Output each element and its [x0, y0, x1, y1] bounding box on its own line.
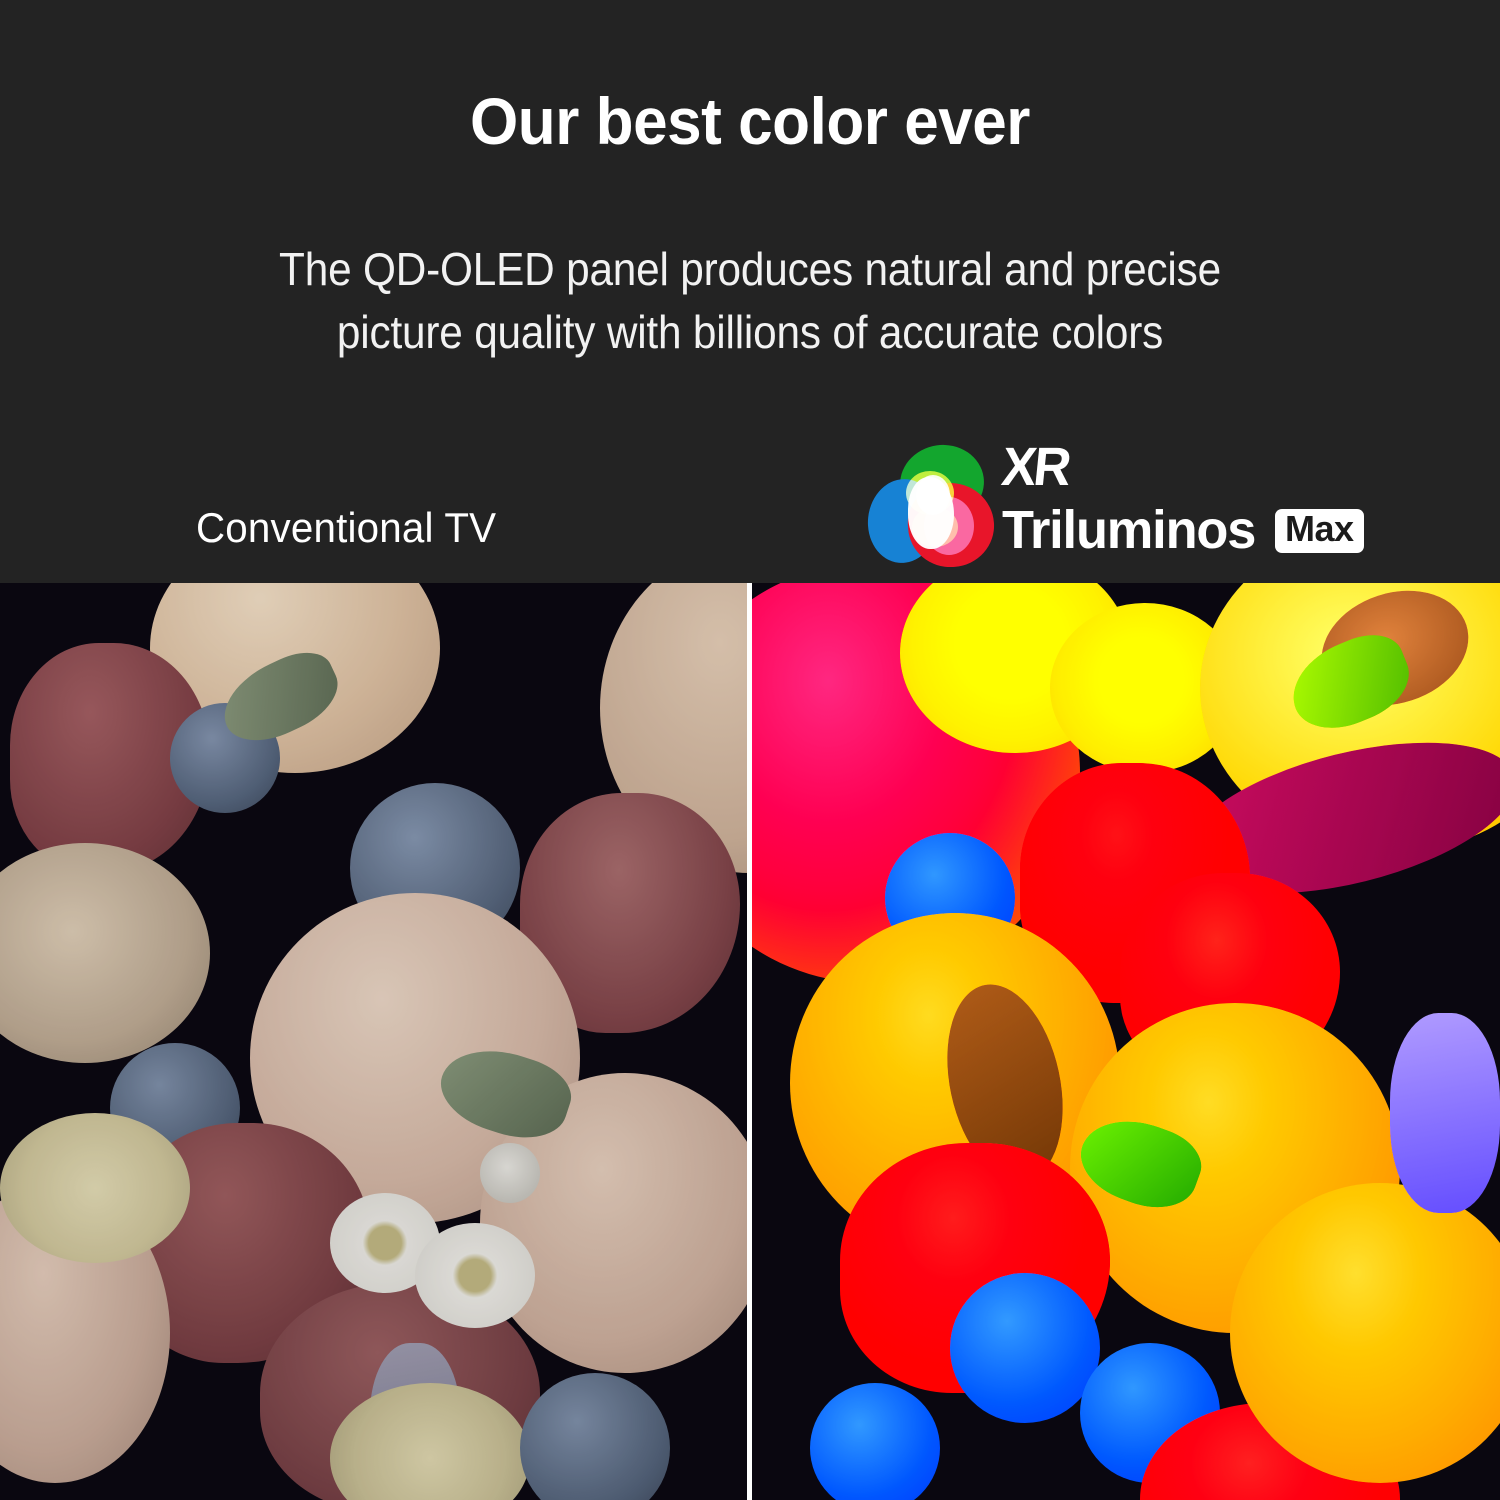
triluminos-wordmark: Triluminos: [1002, 503, 1255, 557]
xr-monogram: XR: [1002, 443, 1349, 501]
blueberry-6: [520, 1373, 670, 1500]
daisy-bud: [480, 1143, 540, 1203]
subheading-line-2: picture quality with billions of accurat…: [60, 301, 1440, 364]
page-title: Our best color ever: [45, 86, 1455, 157]
max-badge: Max: [1275, 509, 1364, 553]
blob-white-core-icon: [916, 475, 950, 515]
blueberry-11: [810, 1383, 940, 1500]
split-divider: [747, 583, 752, 1500]
apricot-half: [0, 843, 210, 1063]
triluminos-row: Triluminos Max: [1002, 503, 1364, 557]
fruit-scene-vivid: [750, 583, 1500, 1500]
header-panel: Our best color ever The QD-OLED panel pr…: [0, 0, 1500, 583]
fruit-comparison-photo: [0, 583, 1500, 1500]
lavender-2: [1390, 1013, 1500, 1213]
conventional-tv-label: Conventional TV: [196, 504, 496, 552]
daisy-2: [415, 1223, 535, 1328]
xr-monogram-text: XR: [999, 443, 1070, 493]
photo-half-triluminos: [750, 583, 1500, 1500]
yellow-flower-1: [0, 1113, 190, 1263]
marketing-banner: Our best color ever The QD-OLED panel pr…: [0, 0, 1500, 1500]
photo-half-conventional: [0, 583, 750, 1500]
triluminos-color-blob-icon: [868, 445, 986, 567]
subheading: The QD-OLED panel produces natural and p…: [60, 238, 1440, 363]
subheading-line-1: The QD-OLED panel produces natural and p…: [279, 243, 1221, 295]
fruit-scene-dull: [0, 583, 750, 1500]
blueberry-9: [950, 1273, 1100, 1423]
xr-triluminos-logo: XR Triluminos Max: [868, 443, 1388, 569]
logo-wordmark: XR Triluminos Max: [1002, 443, 1364, 557]
